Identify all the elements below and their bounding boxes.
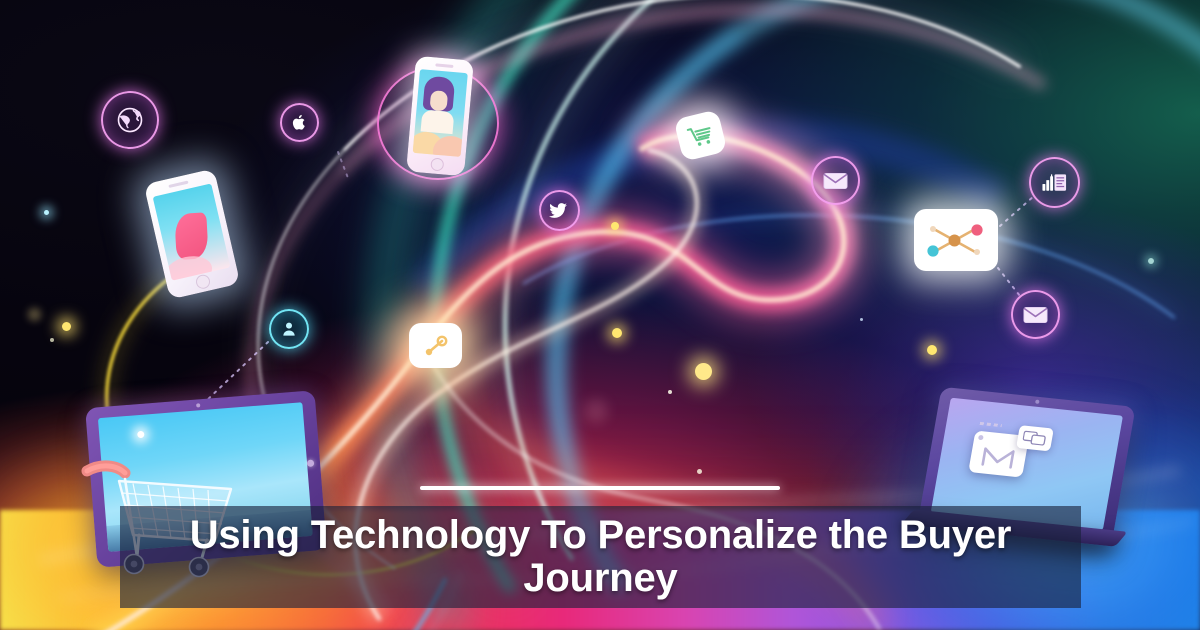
title-line-1: Using Technology To Personalize the Buye…: [126, 514, 1075, 557]
page-title: Using Technology To Personalize the Buye…: [126, 514, 1075, 600]
apple-icon[interactable]: [280, 103, 319, 142]
message-bubble-card[interactable]: [1016, 425, 1054, 451]
avatar-shoulders: [421, 109, 455, 134]
user-glyph: [279, 319, 299, 339]
chat-bubbles-glyph: [1022, 431, 1048, 446]
phone-home-button[interactable]: [430, 157, 444, 171]
envelope-glyph: [1023, 305, 1048, 325]
network-diagram-glyph: [921, 216, 991, 264]
envelope-icon-bottom[interactable]: [1011, 290, 1060, 339]
title-line-2: Journey: [126, 557, 1075, 600]
phone-home-button[interactable]: [195, 273, 212, 290]
share-network-card[interactable]: [409, 323, 462, 368]
apple-glyph: [290, 113, 309, 132]
phone-screen: [413, 69, 468, 157]
envelope-icon-top[interactable]: [811, 156, 860, 205]
screen-toolbar-ticks: [980, 422, 1002, 427]
user-profile-icon[interactable]: [269, 309, 309, 349]
smartphone-avatar: [371, 56, 501, 186]
bird-glyph: [549, 200, 570, 221]
envelope-glyph: [823, 171, 848, 191]
title-banner: Using Technology To Personalize the Buye…: [120, 506, 1081, 608]
smartphone-tilted: [146, 170, 256, 300]
mail-card-dot: [978, 435, 984, 440]
phone-speaker: [168, 181, 188, 188]
hero-banner: Using Technology To Personalize the Buye…: [0, 0, 1200, 630]
laptop-camera: [1035, 400, 1040, 404]
phone-body: [144, 168, 241, 299]
bar-chart-glyph: [1041, 171, 1068, 195]
share-node-glyph: [421, 333, 451, 359]
phone-body: [406, 56, 474, 177]
tablet-home-button[interactable]: [307, 459, 315, 467]
analytics-chart-icon[interactable]: [1029, 157, 1080, 208]
title-divider-rule: [420, 486, 780, 490]
shopping-cart-glyph: [685, 121, 716, 151]
phone-speaker: [435, 63, 453, 68]
twitter-bird-icon[interactable]: [539, 190, 580, 231]
globe-glyph: [115, 105, 145, 135]
data-network-card[interactable]: [914, 209, 998, 271]
mail-m-glyph: [978, 442, 1018, 471]
phone-screen: [153, 183, 231, 280]
tablet-camera: [196, 403, 200, 407]
wallpaper-blob: [174, 212, 208, 260]
globe-icon[interactable]: [101, 91, 159, 149]
